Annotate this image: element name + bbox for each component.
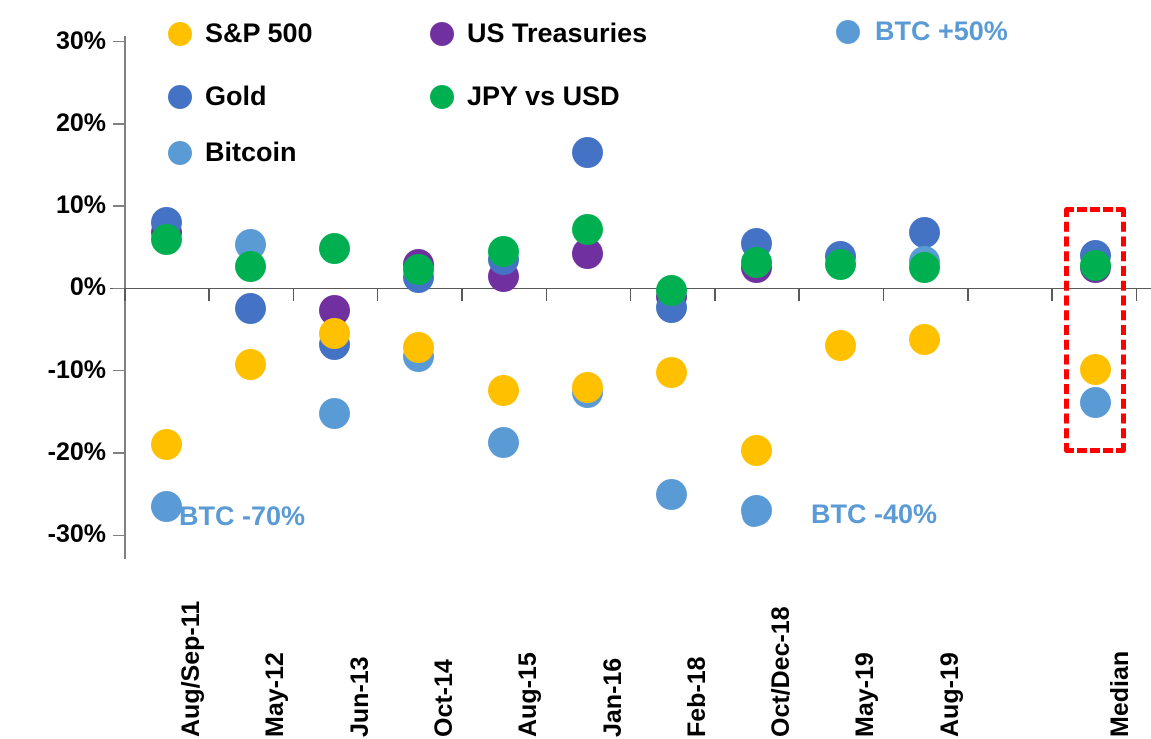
y-axis-tick-label: 0% — [8, 275, 106, 300]
data-point[interactable] — [488, 236, 519, 267]
legend-item-gold[interactable]: Gold — [168, 83, 267, 110]
data-point[interactable] — [151, 491, 182, 522]
legend-item-label: JPY vs USD — [467, 83, 620, 110]
x-axis-tick-label: Feb-18 — [685, 656, 710, 737]
data-point[interactable] — [741, 247, 772, 278]
y-axis-tick — [113, 452, 124, 454]
y-axis-tick-label: 30% — [8, 29, 106, 54]
y-axis-tick — [113, 123, 124, 125]
legend-item-label: S&P 500 — [205, 20, 313, 47]
data-point[interactable] — [319, 233, 350, 264]
data-point[interactable] — [488, 375, 519, 406]
x-axis-tick — [1051, 288, 1053, 301]
data-point[interactable] — [151, 224, 182, 255]
median-highlight-box — [1064, 207, 1126, 453]
bitcoin-marker-icon — [836, 20, 860, 44]
data-point[interactable] — [572, 214, 603, 245]
y-axis-tick-label: 20% — [8, 111, 106, 136]
x-axis-tick — [377, 288, 379, 301]
legend-item-label: Bitcoin — [205, 139, 297, 166]
data-point[interactable] — [909, 324, 940, 355]
legend-swatch-icon — [430, 22, 454, 46]
y-axis-tick — [113, 41, 124, 43]
annotation-btc-minus-70: BTC -70% — [179, 503, 305, 530]
annotation-btc-minus-40: BTC -40% — [742, 501, 937, 528]
x-axis-tick-label: Oct-14 — [432, 659, 457, 737]
y-axis-tick-label: 10% — [8, 193, 106, 218]
x-axis-tick — [124, 288, 126, 301]
chart-canvas: 30%20%10%0%-10%-20%-30% Aug/Sep-11May-12… — [0, 0, 1151, 739]
legend-item-jpy-vs-usd[interactable]: JPY vs USD — [430, 83, 620, 110]
annotation-btc-plus-50: BTC +50% — [836, 18, 1008, 45]
data-point[interactable] — [572, 137, 603, 168]
x-axis-tick — [546, 288, 548, 301]
x-axis-tick — [461, 288, 463, 301]
x-axis-tick — [630, 288, 632, 301]
x-axis-tick — [714, 288, 716, 301]
data-point[interactable] — [825, 330, 856, 361]
data-point[interactable] — [319, 398, 350, 429]
x-axis-tick-label: Jan-16 — [601, 658, 626, 737]
legend-swatch-icon — [168, 141, 192, 165]
x-axis-tick — [293, 288, 295, 301]
x-axis-tick — [208, 288, 210, 301]
x-axis-tick-label: May-19 — [853, 652, 878, 737]
x-axis-tick-label: Jun-13 — [348, 656, 373, 737]
data-point[interactable] — [151, 429, 182, 460]
data-point[interactable] — [656, 357, 687, 388]
data-point[interactable] — [488, 427, 519, 458]
x-axis-tick-label: Aug-19 — [938, 652, 963, 737]
data-point[interactable] — [235, 349, 266, 380]
legend-item-bitcoin[interactable]: Bitcoin — [168, 139, 297, 166]
data-point[interactable] — [572, 372, 603, 403]
data-point[interactable] — [741, 435, 772, 466]
x-axis-tick-label: Aug-15 — [516, 652, 541, 737]
y-axis-tick — [113, 205, 124, 207]
x-axis-tick-label: Median — [1108, 651, 1133, 737]
x-axis-tick — [1136, 288, 1138, 301]
y-axis-tick-label: -20% — [8, 440, 106, 465]
data-point[interactable] — [235, 251, 266, 282]
legend-item-label: Gold — [205, 83, 267, 110]
legend-item-label: US Treasuries — [467, 20, 647, 47]
x-axis-tick — [883, 288, 885, 301]
annotation-btc-minus-40-label: BTC -40% — [811, 501, 937, 528]
legend-swatch-icon — [168, 85, 192, 109]
x-axis-tick-label: May-12 — [263, 652, 288, 737]
y-axis-tick — [113, 288, 124, 290]
x-axis-tick-label: Oct/Dec-18 — [769, 606, 794, 737]
annotation-btc-plus-50-label: BTC +50% — [875, 18, 1008, 45]
data-point[interactable] — [825, 249, 856, 280]
data-point[interactable] — [909, 217, 940, 248]
x-axis-tick-label: Aug/Sep-11 — [179, 601, 204, 737]
legend-swatch-icon — [430, 85, 454, 109]
data-point[interactable] — [909, 252, 940, 283]
x-axis-tick — [967, 288, 969, 301]
y-axis-tick — [113, 535, 124, 537]
legend-item-s-p-500[interactable]: S&P 500 — [168, 20, 313, 47]
y-axis-tick-label: -10% — [8, 358, 106, 383]
legend-swatch-icon — [168, 22, 192, 46]
legend-item-us-treasuries[interactable]: US Treasuries — [430, 20, 647, 47]
annotation-btc-minus-70-label: BTC -70% — [179, 503, 305, 530]
y-axis-tick — [113, 370, 124, 372]
y-axis-tick-label: -30% — [8, 522, 106, 547]
data-point[interactable] — [656, 479, 687, 510]
x-axis-tick — [798, 288, 800, 301]
bitcoin-marker-icon — [742, 503, 766, 527]
data-point[interactable] — [235, 293, 266, 324]
